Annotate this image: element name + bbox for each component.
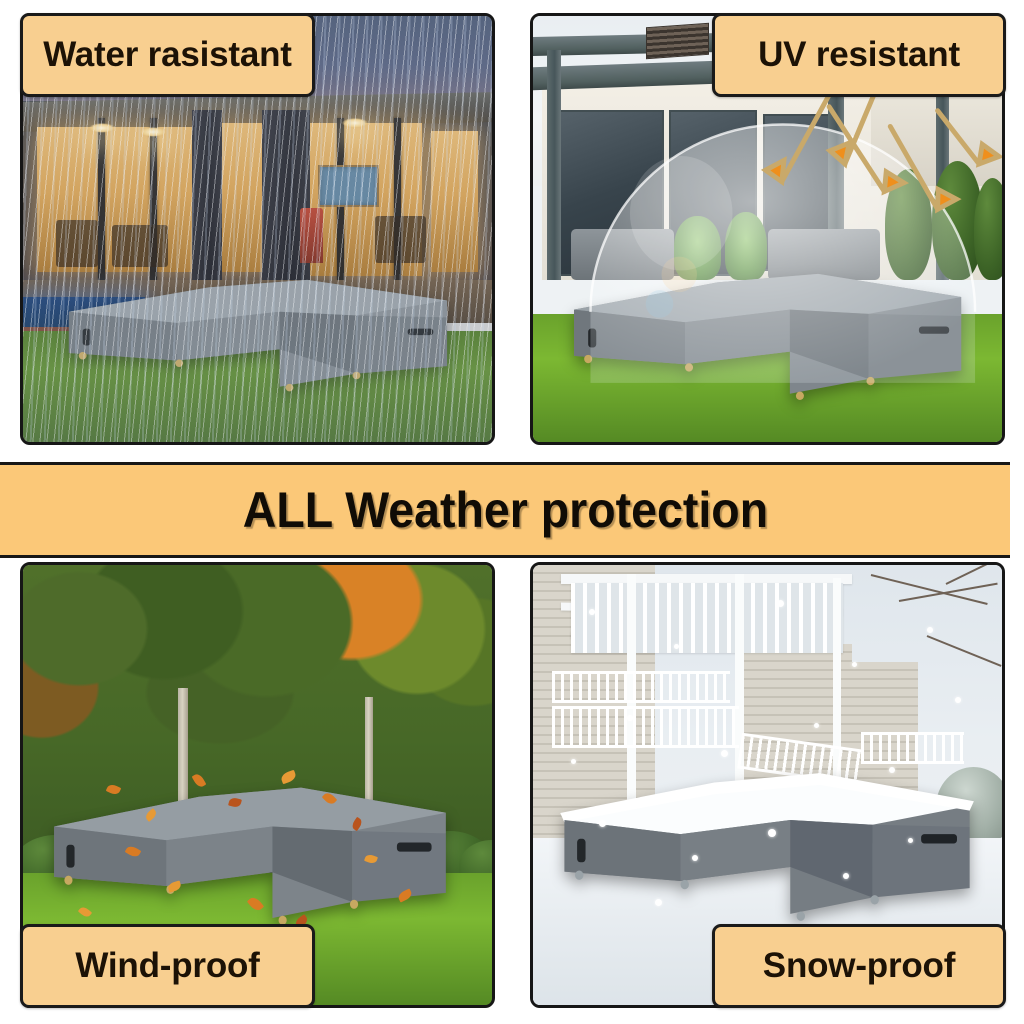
snowflake [768, 829, 776, 837]
snowflake [599, 820, 606, 827]
badge-uv-resistant: UV resistant [712, 13, 1006, 97]
snowflake [852, 662, 857, 667]
snowflake [927, 627, 933, 633]
snowflake [627, 715, 633, 721]
badge-uv-resistant-label: UV resistant [715, 35, 1003, 75]
center-banner: ALL Weather protection [0, 462, 1010, 558]
snowflake [571, 759, 576, 764]
deck-railing-upper [552, 671, 730, 703]
furniture-cover-wind [46, 767, 454, 939]
furniture-cover-snow [556, 759, 978, 935]
deck-joist-group [571, 583, 843, 653]
infographic-root: Water rasistant [0, 0, 1024, 1024]
badge-wind-proof: Wind-proof [20, 924, 315, 1008]
snowflake [908, 838, 913, 843]
badge-snow-proof-label: Snow-proof [715, 946, 1003, 986]
snowflake [843, 873, 849, 879]
badge-water-resistant-label: Water rasistant [23, 35, 312, 75]
badge-wind-proof-label: Wind-proof [23, 946, 312, 986]
center-banner-text: ALL Weather protection [242, 481, 767, 539]
badge-snow-proof: Snow-proof [712, 924, 1006, 1008]
snowflake [674, 644, 679, 649]
deck-railing-main [552, 706, 740, 748]
snowflake [777, 600, 784, 607]
snowflake [721, 750, 728, 757]
badge-water-resistant: Water rasistant [20, 13, 315, 97]
